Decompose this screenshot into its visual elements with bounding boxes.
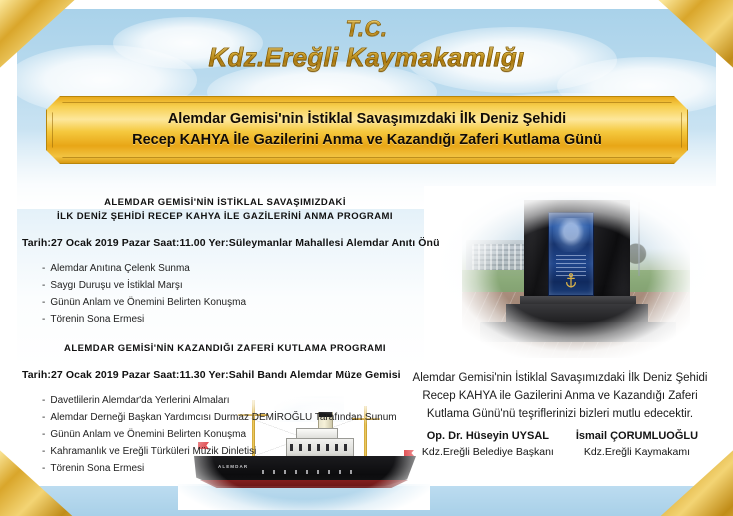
invitation-text: Alemdar Gemisi'nin İstiklal Savaşımızdak… bbox=[396, 370, 724, 423]
program-column: ALEMDAR GEMİSİ'NİN İSTİKLAL SAVAŞIMIZDAK… bbox=[22, 196, 414, 477]
list-item-label: Törenin Sona Ermesi bbox=[50, 463, 144, 474]
invitation-line-2: Recep KAHYA ile Gazilerini Anma ve Kazan… bbox=[396, 388, 724, 406]
list-item-label: Alemdar Derneği Başkan Yardımcısı Durmaz… bbox=[50, 412, 396, 423]
anchor-icon bbox=[565, 273, 578, 288]
monument-photo bbox=[424, 186, 724, 362]
bullet-dash: - bbox=[42, 463, 45, 474]
list-item: -Törenin Sona Ermesi bbox=[42, 311, 414, 328]
poster-header: T.C. Kdz.Ereğli Kaymakamlığı bbox=[0, 16, 733, 75]
ship-waterline-stripe bbox=[200, 480, 408, 488]
program-2-heading-line-1: ALEMDAR GEMİSİ'NİN KAZANDIĞI ZAFERİ KUTL… bbox=[36, 342, 414, 356]
poster-root: T.C. Kdz.Ereğli Kaymakamlığı Alemdar Gem… bbox=[0, 0, 733, 516]
list-item: -Kahramanlık ve Ereğli Türküleri Müzik D… bbox=[42, 443, 414, 460]
monument-scene bbox=[462, 192, 690, 358]
signature-title: Kdz.Ereğli Kaymakamı bbox=[576, 445, 698, 460]
list-item-label: Saygı Duruşu ve İstiklal Marşı bbox=[50, 280, 182, 291]
program-2-heading: ALEMDAR GEMİSİ'NİN KAZANDIĞI ZAFERİ KUTL… bbox=[36, 342, 414, 356]
program-1-list: -Alemdar Anıtına Çelenk Sunma -Saygı Dur… bbox=[22, 260, 414, 329]
program-1-heading: ALEMDAR GEMİSİ'NİN İSTİKLAL SAVAŞIMIZDAK… bbox=[36, 196, 414, 225]
list-item: -Günün Anlam ve Önemini Belirten Konuşma bbox=[42, 294, 414, 311]
header-institution-line: Kdz.Ereğli Kaymakamlığı bbox=[0, 41, 733, 75]
signature-block: Op. Dr. Hüseyin UYSAL Kdz.Ereğli Belediy… bbox=[396, 428, 724, 460]
list-item-label: Davetlilerin Alemdar'da Yerlerini Almala… bbox=[50, 395, 229, 406]
list-item: -Alemdar Derneği Başkan Yardımcısı Durma… bbox=[42, 409, 414, 426]
program-2-datetime: Tarih:27 Ocak 2019 Pazar Saat:11.30 Yer:… bbox=[22, 369, 414, 381]
list-item: -Saygı Duruşu ve İstiklal Marşı bbox=[42, 277, 414, 294]
list-item-label: Törenin Sona Ermesi bbox=[50, 314, 144, 325]
monument-base-lower bbox=[480, 322, 676, 342]
list-item-label: Günün Anlam ve Önemini Belirten Konuşma bbox=[50, 297, 246, 308]
list-item: -Törenin Sona Ermesi bbox=[42, 460, 414, 477]
bullet-dash: - bbox=[42, 446, 45, 457]
invitation-line-1: Alemdar Gemisi'nin İstiklal Savaşımızdak… bbox=[396, 370, 724, 388]
light-pole bbox=[638, 202, 640, 276]
banner-title-line-1: Alemdar Gemisi'nin İstiklal Savaşımızdak… bbox=[132, 109, 602, 130]
banner-title-line-2: Recep KAHYA İle Gazilerini Anma ve Kazan… bbox=[132, 130, 602, 151]
list-item-label: Kahramanlık ve Ereğli Türküleri Müzik Di… bbox=[50, 446, 256, 457]
program-1-datetime: Tarih:27 Ocak 2019 Pazar Saat:11.00 Yer:… bbox=[22, 237, 414, 249]
program-2-list: -Davetlilerin Alemdar'da Yerlerini Almal… bbox=[22, 392, 414, 478]
program-section-1: ALEMDAR GEMİSİ'NİN İSTİKLAL SAVAŞIMIZDAK… bbox=[22, 196, 414, 328]
bullet-dash: - bbox=[42, 280, 45, 291]
signature-title: Kdz.Ereğli Belediye Başkanı bbox=[422, 445, 554, 460]
list-item-label: Alemdar Anıtına Çelenk Sunma bbox=[50, 263, 190, 274]
list-item-label: Günün Anlam ve Önemini Belirten Konuşma bbox=[50, 429, 246, 440]
signature-governor: İsmail ÇORUMLUOĞLU Kdz.Ereğli Kaymakamı bbox=[576, 428, 698, 460]
list-item: -Günün Anlam ve Önemini Belirten Konuşma bbox=[42, 426, 414, 443]
program-1-heading-line-2: İLK DENİZ ŞEHİDİ RECEP KAHYA İLE GAZİLER… bbox=[36, 210, 414, 224]
bullet-dash: - bbox=[42, 263, 45, 274]
bullet-dash: - bbox=[42, 297, 45, 308]
invitation-line-3: Kutlama Günü'nü teşriflerinizi bizleri m… bbox=[396, 406, 724, 424]
program-section-2: ALEMDAR GEMİSİ'NİN KAZANDIĞI ZAFERİ KUTL… bbox=[22, 342, 414, 477]
bullet-dash: - bbox=[42, 412, 45, 423]
signature-mayor: Op. Dr. Hüseyin UYSAL Kdz.Ereğli Belediy… bbox=[422, 428, 554, 460]
header-tc-line: T.C. bbox=[0, 16, 733, 41]
granite-pillar bbox=[524, 200, 630, 300]
signature-name: Op. Dr. Hüseyin UYSAL bbox=[422, 428, 554, 445]
signature-name: İsmail ÇORUMLUOĞLU bbox=[576, 428, 698, 445]
banner-text-block: Alemdar Gemisi'nin İstiklal Savaşımızdak… bbox=[118, 109, 616, 151]
blue-memorial-plaque bbox=[548, 212, 594, 296]
list-item: -Davetlilerin Alemdar'da Yerlerini Almal… bbox=[42, 392, 414, 409]
bullet-dash: - bbox=[42, 429, 45, 440]
program-1-heading-line-1: ALEMDAR GEMİSİ'NİN İSTİKLAL SAVAŞIMIZDAK… bbox=[36, 196, 414, 210]
bullet-dash: - bbox=[42, 314, 45, 325]
title-banner: Alemdar Gemisi'nin İstiklal Savaşımızdak… bbox=[46, 96, 688, 164]
list-item: -Alemdar Anıtına Çelenk Sunma bbox=[42, 260, 414, 277]
monument-base-upper bbox=[506, 304, 648, 324]
bullet-dash: - bbox=[42, 395, 45, 406]
